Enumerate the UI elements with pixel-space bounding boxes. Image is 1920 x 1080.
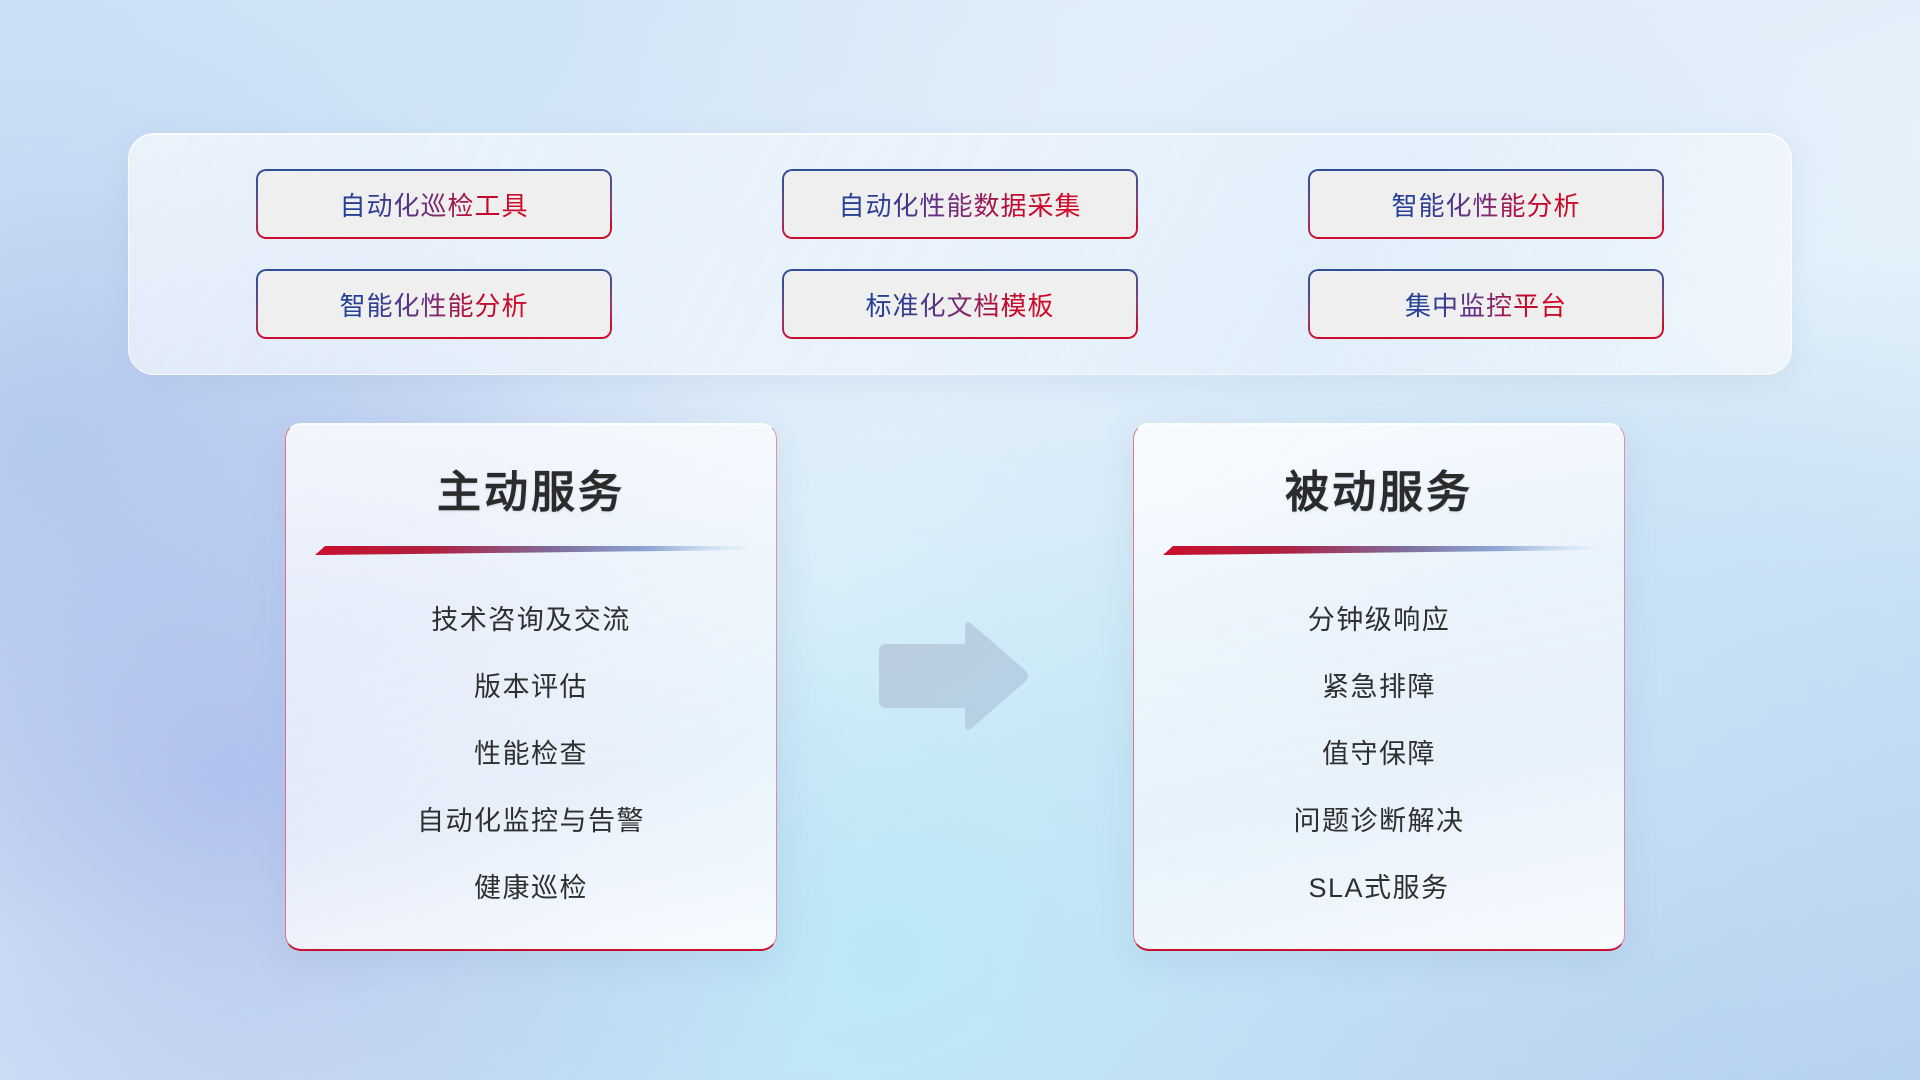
list-item: 性能检查 (286, 718, 776, 785)
card-title: 主动服务 (286, 456, 776, 520)
list-item: 紧急排障 (1134, 651, 1624, 718)
tag-label: 集中监控平台 (1405, 286, 1567, 323)
tag-label: 标准化文档模板 (865, 286, 1054, 323)
tag-chip[interactable]: 标准化文档模板 (782, 269, 1138, 339)
list-item: 版本评估 (286, 651, 776, 718)
tag-label: 智能化性能分析 (339, 286, 528, 323)
passive-service-list: 分钟级响应 紧急排障 值守保障 问题诊断解决 SLA式服务 (1134, 584, 1624, 919)
list-item: SLA式服务 (1134, 852, 1624, 919)
card-title: 被动服务 (1134, 456, 1624, 520)
active-service-list: 技术咨询及交流 版本评估 性能检查 自动化监控与告警 健康巡检 (286, 584, 776, 919)
list-item: 技术咨询及交流 (286, 584, 776, 651)
capability-tags-panel: 自动化巡检工具 自动化性能数据采集 智能化性能分析 智能化性能分析 标准化文档模… (128, 133, 1792, 375)
list-item: 分钟级响应 (1134, 584, 1624, 651)
right-arrow-icon (873, 616, 1033, 736)
divider-gradient (315, 542, 747, 556)
divider-gradient (1163, 542, 1595, 556)
tag-label: 智能化性能分析 (1391, 186, 1580, 223)
list-item: 健康巡检 (286, 852, 776, 919)
tag-chip[interactable]: 集中监控平台 (1308, 269, 1664, 339)
tag-chip[interactable]: 智能化性能分析 (1308, 169, 1664, 239)
tag-chip[interactable]: 自动化性能数据采集 (782, 169, 1138, 239)
card-passive-service: 被动服务 分钟级响应 紧急排障 值守保障 问题诊断解决 SLA式服务 (1133, 423, 1625, 951)
tag-label: 自动化性能数据采集 (838, 186, 1081, 223)
list-item: 值守保障 (1134, 718, 1624, 785)
tag-chip[interactable]: 自动化巡检工具 (256, 169, 612, 239)
tag-chip[interactable]: 智能化性能分析 (256, 269, 612, 339)
tag-label: 自动化巡检工具 (339, 186, 528, 223)
list-item: 问题诊断解决 (1134, 785, 1624, 852)
list-item: 自动化监控与告警 (286, 785, 776, 852)
card-active-service: 主动服务 技术咨询及交流 版本评估 性能检查 自动化监控与告警 健康巡检 (285, 423, 777, 951)
